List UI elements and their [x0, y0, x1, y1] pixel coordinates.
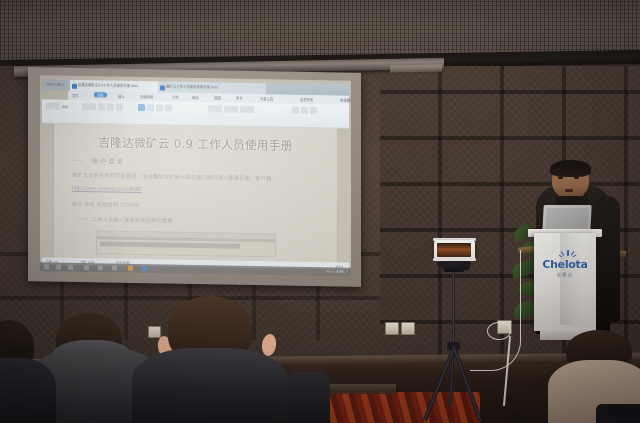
ribbon-group-styles[interactable] [208, 105, 254, 113]
doc-tab-2-label: 微矿云工作人员使用说明手册.docx [166, 84, 218, 89]
presenter-eye-right [574, 177, 579, 179]
ribbon-group-paste[interactable]: 粘贴 [46, 102, 68, 109]
screen-valance-cap [390, 65, 442, 73]
document-login-url[interactable]: http://omn.chelota.com:8080 [72, 186, 142, 193]
ribbon-tab-review[interactable]: 审阅 [192, 94, 199, 99]
underline-icon[interactable] [116, 104, 123, 111]
ribbon-tab-section[interactable]: 章节 [236, 95, 243, 100]
presentation-room-photo: WPS Office 吉隆达微矿云0.9工作人员使用手册.docx 微矿云工作人… [0, 0, 640, 423]
style-heading-icon[interactable] [224, 105, 238, 112]
projection-screen-surface: WPS Office 吉隆达微矿云0.9工作人员使用手册.docx 微矿云工作人… [40, 75, 351, 276]
search-icon[interactable] [56, 265, 61, 270]
ribbon-tab-dev[interactable]: 开发工具 [260, 96, 273, 101]
audience-member-5 [286, 372, 330, 423]
presenter-laptop-screen [545, 208, 588, 230]
projected-desktop: WPS Office 吉隆达微矿云0.9工作人员使用手册.docx 微矿云工作人… [40, 75, 351, 276]
document-paragraph-1: 微矿云目前支持网页版登录，浏览器地址栏输入相应端口即可进入登录页面。客户端 [72, 172, 272, 182]
charging-cable [470, 250, 521, 371]
align-left-icon[interactable] [156, 104, 163, 111]
word-doc-icon [160, 85, 165, 90]
audience-member-2 [132, 348, 288, 423]
replace-icon[interactable] [301, 107, 308, 114]
style-title-icon[interactable] [240, 106, 254, 113]
document-title: 吉隆达微矿云 0.9 工作人员使用手册 [54, 134, 337, 155]
align-center-icon[interactable] [165, 104, 172, 111]
select-icon[interactable] [310, 107, 317, 114]
wall-switch-left [148, 326, 161, 338]
wall-socket-1 [385, 322, 399, 335]
numbered-list-icon[interactable] [147, 104, 154, 111]
ribbon-group-font[interactable] [82, 103, 123, 111]
phone-clamp-bottom [433, 258, 476, 261]
ribbon-tab-file[interactable]: 文件 [72, 92, 79, 97]
find-icon[interactable] [292, 107, 299, 114]
audience-member-4-shoulder [596, 404, 640, 423]
wps-icon[interactable] [128, 266, 133, 271]
brand-sub: 吉隆达 [536, 272, 594, 278]
smartphone-screen[interactable] [437, 243, 471, 257]
paste-icon[interactable] [46, 102, 60, 109]
presenter-arm-right [596, 196, 620, 322]
presenter-hair [550, 160, 591, 177]
ribbon-tab-insert[interactable]: 插入 [118, 93, 125, 98]
explorer-icon[interactable] [84, 265, 89, 270]
taskbar-tray[interactable]: EN ▲ ◨ ⌨ 🔊 [327, 270, 348, 274]
wps-logo-label: WPS Office [42, 79, 68, 90]
task-view-icon[interactable] [68, 265, 73, 270]
wall-socket-2 [401, 322, 415, 335]
presenter-eye-left [558, 177, 563, 179]
ribbon-tab-home[interactable]: 开始 [94, 92, 107, 97]
bold-icon[interactable] [98, 103, 105, 110]
podium [534, 233, 596, 331]
ribbon-tab-view[interactable]: 视图 [214, 95, 221, 100]
paste-label: 粘贴 [62, 104, 68, 108]
browser-icon[interactable] [98, 265, 103, 270]
presenter-mouth [565, 189, 573, 192]
ribbon-find-label[interactable]: 查找替换 [340, 97, 351, 102]
start-icon[interactable] [44, 264, 49, 269]
app-icon[interactable] [142, 266, 147, 271]
document-heading: 一、 账户登录 [72, 156, 125, 166]
font-name-icon[interactable] [82, 103, 96, 110]
bullet-list-icon[interactable] [138, 104, 145, 111]
document-page: 吉隆达微矿云 0.9 工作人员使用手册 一、 账户登录 微矿云目前支持网页版登录… [54, 124, 337, 263]
audience-member-3 [0, 358, 56, 423]
ribbon-group-editing[interactable] [292, 107, 317, 114]
ribbon-tab-member[interactable]: 会员专享 [300, 96, 313, 101]
doc-tab-1-label: 吉隆达微矿云0.9工作人员使用手册.docx [78, 83, 138, 88]
cable-loop [487, 322, 511, 340]
document-paragraph-4: （一） 工作人员输入姓名和密码即可登录 [74, 216, 173, 225]
ribbon-group-paragraph[interactable] [138, 104, 172, 112]
style-normal-icon[interactable] [208, 105, 222, 112]
ribbon-tab-layout[interactable]: 页面布局 [140, 94, 153, 99]
ribbon-tab-ref[interactable]: 引用 [172, 94, 179, 99]
italic-icon[interactable] [107, 103, 114, 110]
tripod-pan-handle[interactable] [437, 262, 446, 267]
word-doc-icon [72, 83, 77, 88]
brand-name: Chelota [536, 258, 594, 271]
document-paragraph-3: 账户 姓名 初始密码 123456 [72, 201, 139, 209]
podium-branding: Chelota 吉隆达 [536, 258, 594, 278]
mail-icon[interactable] [112, 266, 117, 271]
podium-shading [560, 233, 582, 325]
